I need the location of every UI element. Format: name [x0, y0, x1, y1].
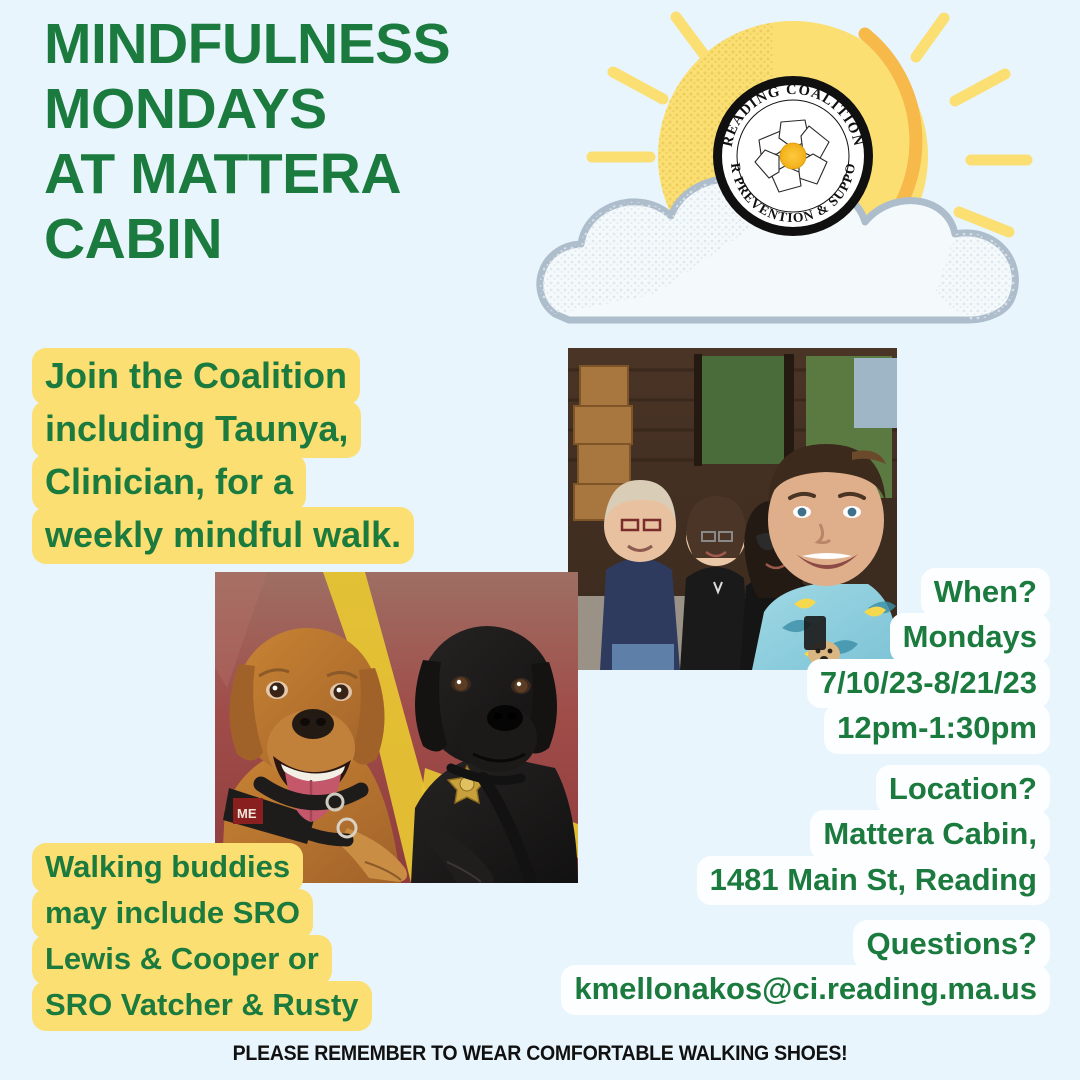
location-address: 1481 Main St, Reading — [697, 856, 1050, 905]
join-line-3: Clinician, for a — [32, 454, 306, 511]
buddies-line-1: Walking buddies — [32, 843, 303, 893]
highlight-block-join: Join the Coalition including Taunya, Cli… — [32, 348, 414, 560]
location-venue: Mattera Cabin, — [810, 810, 1050, 859]
questions-heading: Questions? — [853, 920, 1050, 969]
join-line-1: Join the Coalition — [32, 348, 360, 405]
svg-text:ME: ME — [237, 806, 257, 821]
poster-canvas: READING COALITION FOR PREVENTION & SUPPO… — [0, 0, 1080, 1080]
when-day: Mondays — [890, 613, 1050, 662]
contact-email[interactable]: kmellonakos@ci.reading.ma.us — [561, 965, 1050, 1014]
highlight-block-when: When? Mondays 7/10/23-8/21/23 12pm-1:30p… — [807, 568, 1050, 750]
when-heading: When? — [921, 568, 1050, 617]
highlight-block-walking-buddies: Walking buddies may include SRO Lewis & … — [32, 843, 372, 1027]
join-line-2: including Taunya, — [32, 401, 361, 458]
logo-center-sun — [780, 143, 806, 169]
page-title: MINDFULNESS MONDAYS AT MATTERA CABIN — [44, 12, 604, 272]
person-2 — [680, 496, 750, 670]
buddies-line-3: Lewis & Cooper or — [32, 935, 332, 985]
buddies-line-4: SRO Vatcher & Rusty — [32, 981, 372, 1031]
photo-police-dogs: ME — [215, 572, 578, 883]
location-heading: Location? — [876, 765, 1050, 814]
reading-coalition-logo: READING COALITION FOR PREVENTION & SUPPO… — [713, 76, 873, 236]
person-1 — [600, 480, 680, 670]
highlight-block-questions: Questions? kmellonakos@ci.reading.ma.us — [561, 920, 1050, 1011]
buddies-line-2: may include SRO — [32, 889, 313, 939]
footer-note: PLEASE REMEMBER TO WEAR COMFORTABLE WALK… — [38, 1042, 1042, 1066]
highlight-block-location: Location? Mattera Cabin, 1481 Main St, R… — [697, 765, 1050, 901]
join-line-4: weekly mindful walk. — [32, 507, 414, 564]
when-times: 12pm-1:30pm — [824, 704, 1050, 753]
when-dates: 7/10/23-8/21/23 — [807, 659, 1050, 708]
sun-and-cloud-illustration: READING COALITION FOR PREVENTION & SUPPO… — [535, 0, 1080, 339]
